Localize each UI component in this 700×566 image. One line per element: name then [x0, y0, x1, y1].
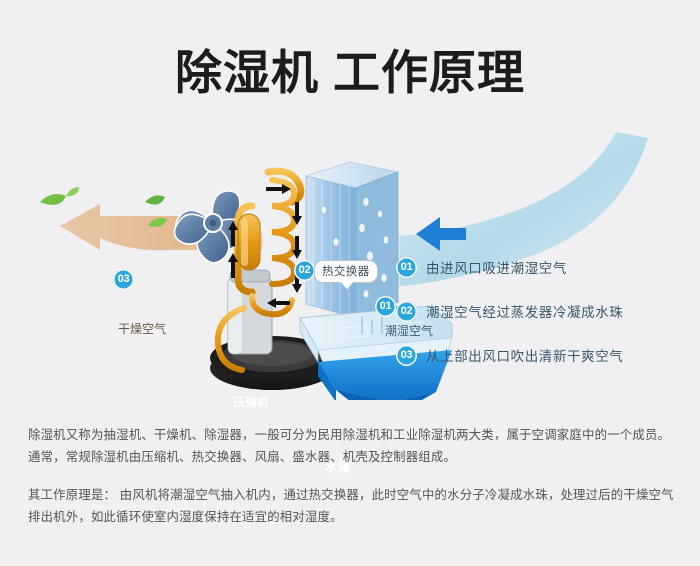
paragraph-1: 除湿机又称为抽湿机、干燥机、除湿器，一般可分为民用除湿机和工业除湿机两大类，属于…: [28, 424, 676, 468]
legend-badge-02: 02: [396, 301, 417, 322]
heat-exchanger-callout: 热交换器: [314, 260, 378, 283]
legend-item-03: 03 从上部出风口吹出清新干爽空气: [396, 344, 686, 366]
title-part-2: 工作原理: [333, 46, 525, 99]
heat-exchanger-block: [306, 162, 398, 318]
body-copy: 除湿机又称为抽湿机、干燥机、除湿器，一般可分为民用除湿机和工业除湿机两大类，属于…: [28, 424, 676, 528]
infographic-page: 除湿机工作原理: [0, 0, 700, 566]
legend-list: 01 由进风口吸进潮湿空气 02 潮湿空气经过蒸发器冷凝成水珠 03 从上部出风…: [396, 256, 686, 388]
legend-item-02: 02 潮湿空气经过蒸发器冷凝成水珠: [396, 300, 686, 322]
legend-text-01: 由进风口吸进潮湿空气: [426, 257, 567, 277]
legend-text-03: 从上部出风口吹出清新干爽空气: [426, 345, 623, 365]
paragraph-2: 其工作原理是： 由风机将潮湿空气抽入机内，通过热交换器，此时空气中的水分子冷凝成…: [28, 484, 676, 528]
diagram-badge-01: 01: [375, 296, 396, 317]
legend-badge-01: 01: [396, 257, 417, 278]
dry-air-label: 干燥空气: [118, 320, 166, 337]
compressor-label: 压缩机: [234, 394, 269, 410]
legend-text-02: 潮湿空气经过蒸发器冷凝成水珠: [426, 301, 623, 321]
diagram-badge-03: 03: [113, 269, 134, 290]
legend-badge-03: 03: [396, 345, 417, 366]
legend-item-01: 01 由进风口吸进潮湿空气: [396, 256, 686, 278]
title-part-1: 除湿机: [175, 46, 319, 99]
coil-accumulator: [238, 214, 260, 270]
diagram-badge-02: 02: [294, 260, 315, 281]
page-title: 除湿机工作原理: [0, 34, 700, 103]
